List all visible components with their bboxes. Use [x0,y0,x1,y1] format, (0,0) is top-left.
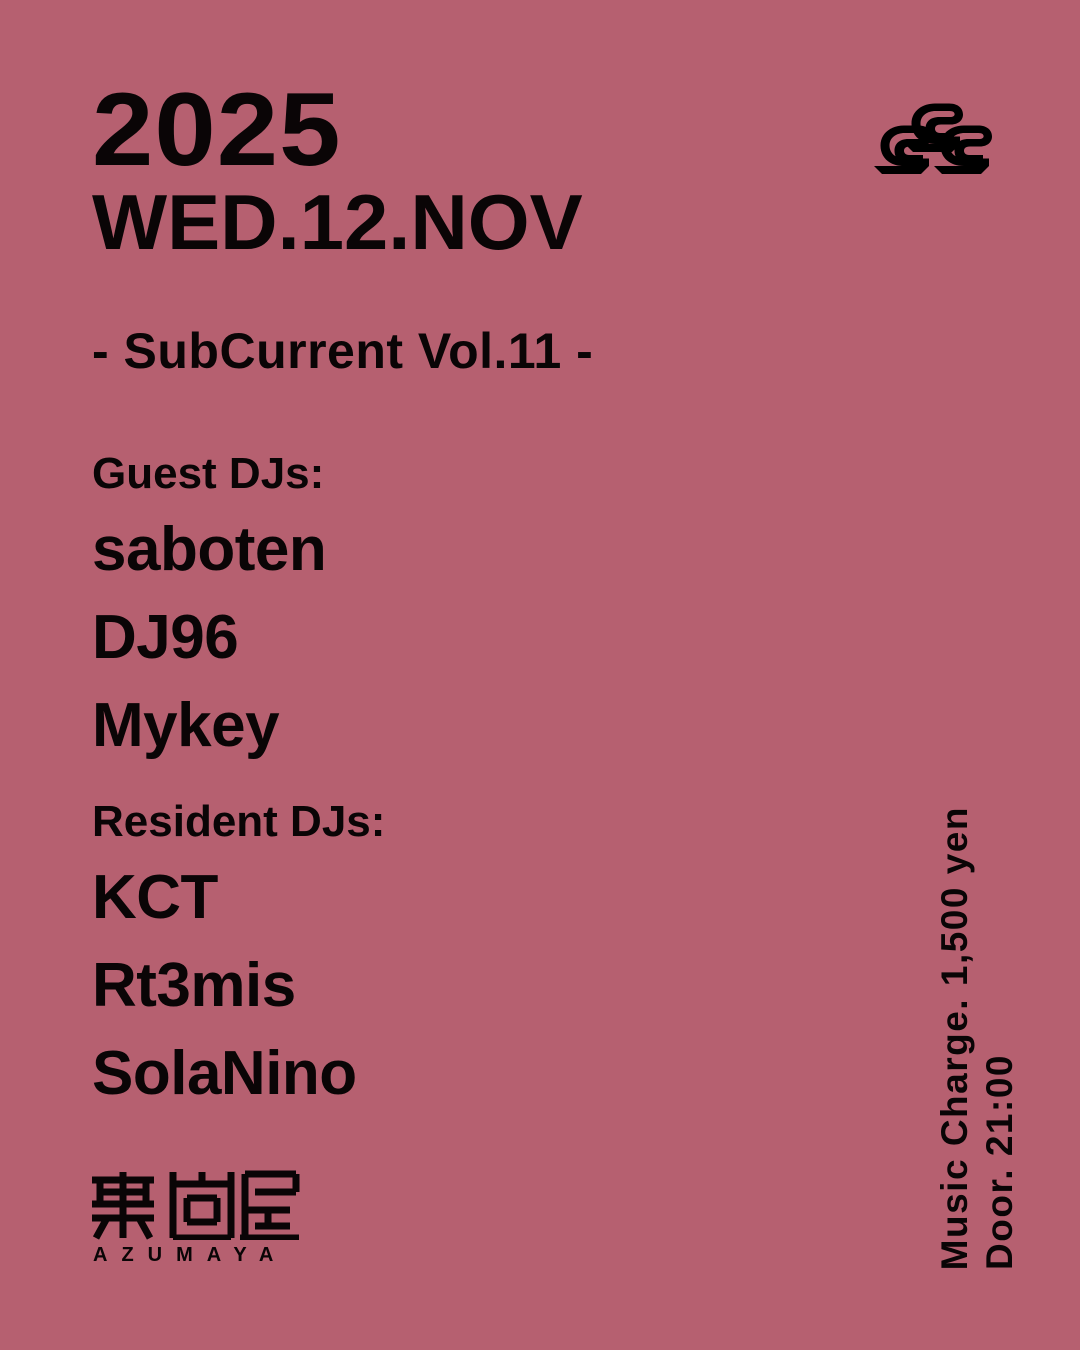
door-time: Door. 21:00 [981,1054,1018,1270]
event-info-vertical: Door. 21:00 Music Charge. 1,500 yen [936,650,1018,1270]
dj-name: KCT [92,854,812,942]
lineup-list: Guest DJs: saboten DJ96 Mykey Resident D… [92,448,812,1118]
lineup-group-guest: Guest DJs: saboten DJ96 Mykey [92,448,812,770]
venue-kanji-icon [90,1170,301,1240]
event-date-block: 2025 WED.12.NOV [92,86,852,263]
lineup-group-label: Guest DJs: [92,448,812,500]
event-year: 2025 [92,86,898,175]
three-wave-spiral-mark-icon [874,100,992,178]
dj-name: Rt3mis [92,942,812,1030]
venue-romaji: AZUMAYA [90,1245,305,1265]
dj-name: Mykey [92,682,812,770]
lineup-group-label: Resident DJs: [92,796,812,848]
lineup-group-resident: Resident DJs: KCT Rt3mis SolaNino [92,796,812,1118]
music-charge: Music Charge. 1,500 yen [936,806,973,1270]
dj-name: saboten [92,506,812,594]
event-flyer: 2025 WED.12.NOV - SubCurrent Vol.11 - Gu… [0,0,1080,1350]
dj-name: DJ96 [92,594,812,682]
event-subtitle: - SubCurrent Vol.11 - [92,322,593,380]
venue-logo: AZUMAYA 東向屋 [90,1170,305,1265]
venue-kanji-text: 東向屋 [90,1265,91,1266]
dj-name: SolaNino [92,1030,812,1118]
event-date: WED.12.NOV [92,183,867,263]
